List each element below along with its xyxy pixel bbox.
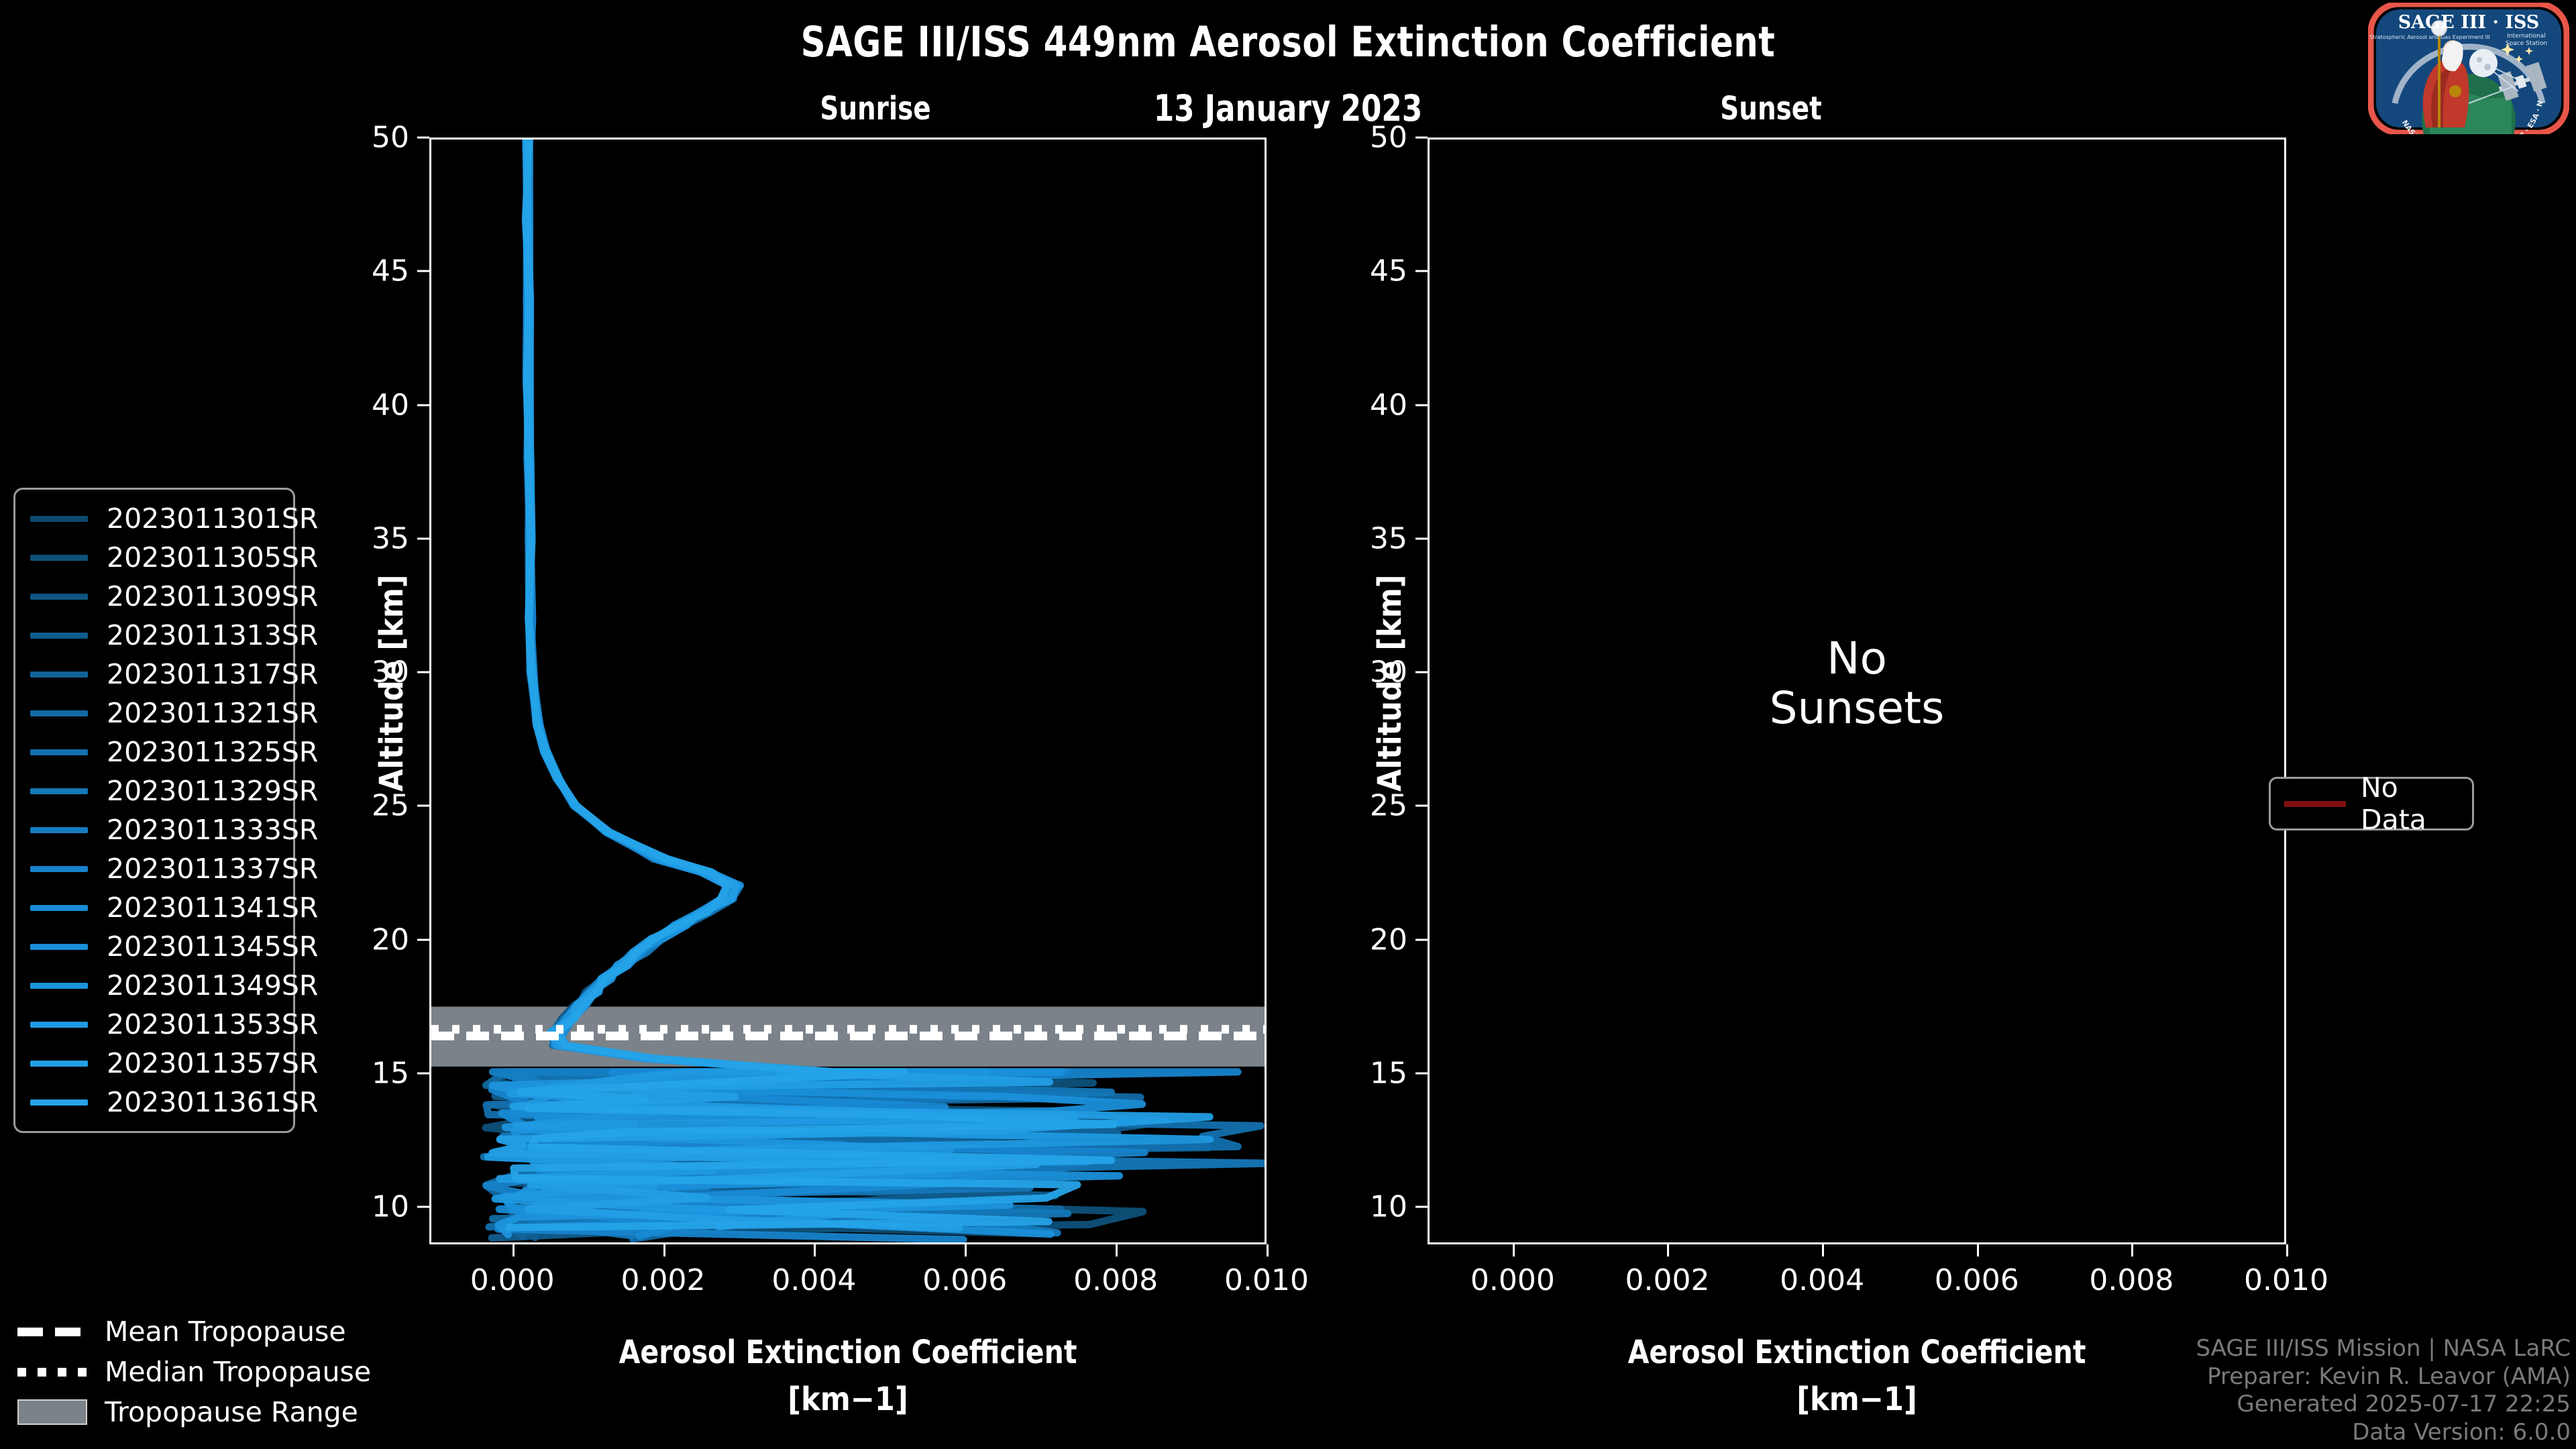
y-axis-tick-mark — [417, 805, 429, 807]
y-axis-tick-label: 25 — [309, 789, 409, 823]
profile-line-swatch — [30, 788, 88, 794]
y-axis-tick-mark — [1415, 805, 1428, 807]
y-axis-tick-mark — [417, 672, 429, 674]
profile-line-swatch — [30, 516, 88, 522]
y-axis-tick-mark — [1415, 672, 1428, 674]
y-axis-tick-mark — [417, 1072, 429, 1074]
svg-text:International: International — [2507, 33, 2545, 40]
y-axis-tick-label: 20 — [1307, 922, 1407, 957]
y-axis-tick-mark — [417, 137, 429, 139]
legend-row-median-tropopause: Median Tropopause — [17, 1352, 433, 1392]
x-axis-tick-label: 0.004 — [1748, 1263, 1896, 1297]
y-axis-tick-mark — [417, 938, 429, 941]
profile-legend-label: 2023011341SR — [107, 892, 318, 924]
left-xaxis-units: [km−1] — [429, 1381, 1267, 1418]
left-xaxis-title: Aerosol Extinction Coefficient — [450, 1334, 1246, 1371]
profile-line-swatch — [30, 983, 88, 989]
profile-line-swatch — [30, 633, 88, 639]
x-axis-tick-label: 0.010 — [2212, 1263, 2360, 1297]
no-sunsets-line2: Sunsets — [1428, 684, 2286, 733]
profile-line-swatch — [30, 710, 88, 716]
legend-row-profile[interactable]: 2023011361SR — [15, 1083, 293, 1122]
y-axis-tick-mark — [1415, 404, 1428, 406]
y-axis-tick-label: 25 — [1307, 789, 1407, 823]
credits-line-2: Preparer: Kevin R. Leavor (AMA) — [2196, 1363, 2571, 1391]
legend-row-profile[interactable]: 2023011313SR — [15, 616, 293, 655]
y-axis-tick-label: 10 — [309, 1190, 409, 1224]
x-axis-tick-label: 0.002 — [590, 1263, 737, 1297]
median-tropopause-label: Median Tropopause — [105, 1356, 371, 1388]
profile-legend-label: 2023011317SR — [107, 658, 318, 690]
legend-row-profile[interactable]: 2023011333SR — [15, 810, 293, 849]
profile-line-swatch — [30, 1061, 88, 1067]
profile-legend[interactable]: 2023011301SR2023011305SR2023011309SR2023… — [13, 488, 295, 1133]
right-xaxis-title: Aerosol Extinction Coefficient — [1449, 1334, 2265, 1371]
y-axis-tick-mark — [417, 1206, 429, 1208]
x-axis-tick-mark — [663, 1244, 665, 1256]
profile-line-swatch — [30, 555, 88, 561]
profile-legend-label: 2023011349SR — [107, 969, 318, 1002]
y-axis-tick-label: 45 — [1307, 254, 1407, 288]
x-axis-tick-label: 0.008 — [2057, 1263, 2205, 1297]
legend-row-profile[interactable]: 2023011349SR — [15, 966, 293, 1005]
y-axis-tick-label: 15 — [309, 1056, 409, 1090]
sage3-iss-mission-patch-logo: SAGE III · ISSStratospheric Aerosol and … — [2368, 3, 2569, 134]
y-axis-tick-mark — [1415, 537, 1428, 539]
credits-line-3: Generated 2025-07-17 22:25 — [2196, 1391, 2571, 1418]
x-axis-tick-label: 0.008 — [1042, 1263, 1189, 1297]
profile-line-swatch — [30, 905, 88, 911]
y-axis-tick-mark — [1415, 137, 1428, 139]
legend-row-profile[interactable]: 2023011329SR — [15, 771, 293, 810]
profile-line-swatch — [30, 827, 88, 833]
credits-block: SAGE III/ISS Mission | NASA LaRC Prepare… — [2196, 1335, 2571, 1446]
legend-row-profile[interactable]: 2023011345SR — [15, 927, 293, 966]
x-axis-tick-label: 0.006 — [891, 1263, 1038, 1297]
x-axis-tick-mark — [1116, 1244, 1118, 1256]
profile-legend-label: 2023011321SR — [107, 697, 318, 729]
legend-row-tropopause-range: Tropopause Range — [17, 1392, 433, 1432]
svg-text:Stratospheric Aerosol and Gas: Stratospheric Aerosol and Gas Experiment… — [2369, 34, 2489, 40]
y-axis-tick-mark — [1415, 938, 1428, 941]
sunrise-panel-title: Sunrise — [712, 90, 1038, 127]
profile-legend-label: 2023011357SR — [107, 1047, 318, 1079]
x-axis-tick-label: 0.004 — [740, 1263, 888, 1297]
profile-legend-label: 2023011301SR — [107, 502, 318, 535]
profile-legend-label: 2023011313SR — [107, 619, 318, 651]
y-axis-tick-label: 35 — [1307, 521, 1407, 555]
no-data-legend-label: No Data — [2361, 771, 2472, 836]
y-axis-tick-mark — [1415, 270, 1428, 272]
left-yaxis-title: Altitude [km] — [373, 575, 411, 792]
legend-row-profile[interactable]: 2023011325SR — [15, 733, 293, 771]
legend-row-profile[interactable]: 2023011337SR — [15, 849, 293, 888]
profile-legend-label: 2023011361SR — [107, 1086, 318, 1118]
no-sunsets-line1: No — [1428, 634, 2286, 684]
sunrise-profile-plot — [431, 140, 1265, 1242]
date-subtitle: 13 January 2023 — [129, 87, 2447, 129]
credits-line-1: SAGE III/ISS Mission | NASA LaRC — [2196, 1335, 2571, 1362]
profile-line-swatch — [30, 866, 88, 872]
profile-line-swatch — [30, 594, 88, 600]
right-yaxis-title: Altitude [km] — [1371, 575, 1409, 792]
y-axis-tick-label: 50 — [309, 121, 409, 155]
tropopause-range-label: Tropopause Range — [105, 1396, 358, 1428]
legend-row-profile[interactable]: 2023011353SR — [15, 1005, 293, 1044]
legend-row-profile[interactable]: 2023011301SR — [15, 499, 293, 538]
legend-row-profile[interactable]: 2023011357SR — [15, 1044, 293, 1083]
profile-line-swatch — [30, 1022, 88, 1028]
svg-text:Space Station: Space Station — [2506, 40, 2547, 47]
y-axis-tick-mark — [1415, 1072, 1428, 1074]
x-axis-tick-label: 0.000 — [439, 1263, 586, 1297]
y-axis-tick-mark — [417, 404, 429, 406]
profile-legend-label: 2023011353SR — [107, 1008, 318, 1040]
mean-tropopause-label: Mean Tropopause — [105, 1316, 346, 1348]
sunset-panel-title: Sunset — [1608, 90, 1934, 127]
y-axis-tick-label: 35 — [309, 521, 409, 555]
x-axis-tick-label: 0.006 — [1903, 1263, 2051, 1297]
profile-legend-label: 2023011329SR — [107, 775, 318, 807]
y-axis-tick-label: 40 — [1307, 388, 1407, 422]
x-axis-tick-label: 0.010 — [1193, 1263, 1340, 1297]
x-axis-tick-label: 0.002 — [1593, 1263, 1741, 1297]
x-axis-tick-mark — [2131, 1244, 2133, 1256]
no-data-line-swatch — [2284, 801, 2346, 807]
x-axis-tick-mark — [1822, 1244, 1824, 1256]
y-axis-tick-mark — [1415, 1206, 1428, 1208]
credits-line-4: Data Version: 6.0.0 — [2196, 1419, 2571, 1446]
profile-legend-label: 2023011325SR — [107, 736, 318, 768]
right-xaxis-units: [km−1] — [1428, 1381, 2286, 1418]
y-axis-tick-label: 20 — [309, 922, 409, 957]
page-title: SAGE III/ISS 449nm Aerosol Extinction Co… — [103, 17, 2473, 66]
profile-legend-label: 2023011345SR — [107, 930, 318, 963]
x-axis-tick-mark — [2286, 1244, 2288, 1256]
y-axis-tick-mark — [417, 270, 429, 272]
mission-patch-graphic: SAGE III · ISSStratospheric Aerosol and … — [2368, 3, 2569, 134]
legend-row-mean-tropopause: Mean Tropopause — [17, 1311, 433, 1352]
profile-legend-label: 2023011305SR — [107, 541, 318, 574]
x-axis-tick-mark — [513, 1244, 515, 1256]
x-axis-tick-mark — [814, 1244, 816, 1256]
dashed-line-icon — [17, 1328, 87, 1336]
legend-row-profile[interactable]: 2023011341SR — [15, 888, 293, 927]
x-axis-tick-label: 0.000 — [1439, 1263, 1587, 1297]
y-axis-tick-label: 40 — [309, 388, 409, 422]
profile-line-swatch — [30, 944, 88, 950]
legend-row-profile[interactable]: 2023011321SR — [15, 694, 293, 733]
profile-line-swatch — [30, 672, 88, 678]
tropopause-legend: Mean Tropopause Median Tropopause Tropop… — [17, 1311, 433, 1432]
x-axis-tick-mark — [1267, 1244, 1269, 1256]
y-axis-tick-label: 45 — [309, 254, 409, 288]
x-axis-tick-mark — [965, 1244, 967, 1256]
dotted-line-icon — [17, 1368, 87, 1377]
sunrise-plot-area — [429, 138, 1267, 1244]
legend-row-profile[interactable]: 2023011309SR — [15, 577, 293, 616]
legend-row-profile[interactable]: 2023011317SR — [15, 655, 293, 694]
x-axis-tick-mark — [1513, 1244, 1515, 1256]
profile-line-swatch — [30, 749, 88, 755]
profile-legend-label: 2023011337SR — [107, 853, 318, 885]
filled-band-icon — [17, 1399, 87, 1425]
x-axis-tick-mark — [1667, 1244, 1669, 1256]
y-axis-tick-mark — [417, 537, 429, 539]
no-sunsets-note: No Sunsets — [1428, 634, 2286, 733]
legend-row-profile[interactable]: 2023011305SR — [15, 538, 293, 577]
y-axis-tick-label: 50 — [1307, 121, 1407, 155]
x-axis-tick-mark — [1977, 1244, 1979, 1256]
profile-line-swatch — [30, 1099, 88, 1106]
svg-text:SAGE III · ISS: SAGE III · ISS — [2398, 12, 2540, 33]
profile-legend-label: 2023011309SR — [107, 580, 318, 612]
y-axis-tick-label: 10 — [1307, 1190, 1407, 1224]
no-data-legend[interactable]: No Data — [2269, 777, 2474, 830]
y-axis-tick-label: 15 — [1307, 1056, 1407, 1090]
profile-legend-label: 2023011333SR — [107, 814, 318, 846]
